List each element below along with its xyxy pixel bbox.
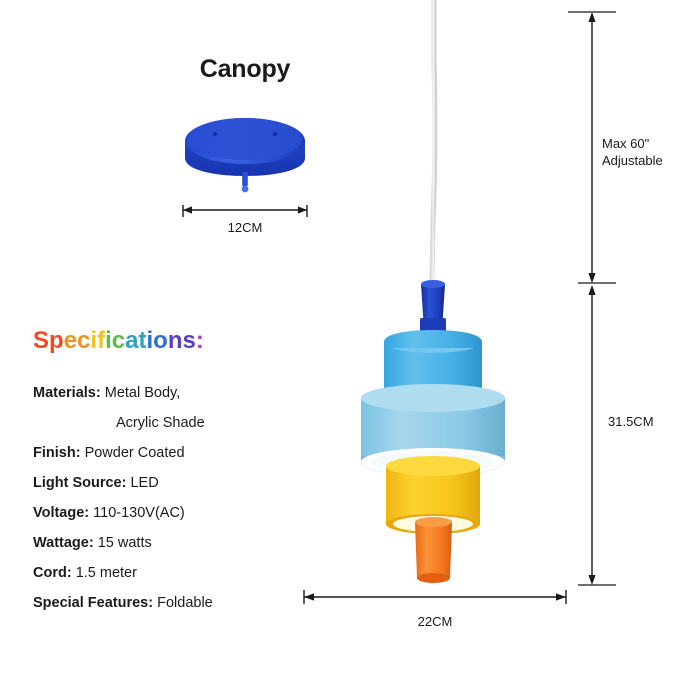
- specifications-list: Materials: Metal Body, Acrylic Shade Fin…: [33, 378, 333, 618]
- canopy-illustration: [179, 110, 311, 200]
- fixture-height-label: 31.5CM: [608, 413, 654, 430]
- heading-letter-s: S: [33, 327, 49, 354]
- spec-row-cord: Cord: 1.5 meter: [33, 558, 333, 588]
- spec-label-materials: Materials:: [33, 385, 101, 401]
- fixture-width-dimension: [290, 585, 580, 615]
- heading-letter-n: n: [168, 327, 183, 354]
- spec-label-special-features: Special Features:: [33, 595, 153, 611]
- pendant-lamp-illustration: [300, 0, 570, 600]
- spec-value-cord: 1.5 meter: [76, 565, 137, 581]
- heading-letter-o: o: [153, 327, 168, 354]
- spec-row-special-features: Special Features: Foldable: [33, 588, 333, 618]
- heading-letter-c: c: [77, 327, 90, 354]
- max-adjustable-line1: Max 60": [602, 135, 663, 152]
- spec-row-wattage: Wattage: 15 watts: [33, 528, 333, 558]
- spec-value-materials-cont: Acrylic Shade: [33, 408, 333, 438]
- spec-label-cord: Cord:: [33, 565, 72, 581]
- fixture-width-label: 22CM: [300, 614, 570, 629]
- heading-letter-a: a: [125, 327, 138, 354]
- spec-label-finish: Finish:: [33, 445, 81, 461]
- specifications-heading: Specifications:: [33, 327, 204, 355]
- heading-letter-colon: :: [196, 327, 204, 354]
- max-adjustable-line2: Adjustable: [602, 152, 663, 169]
- canopy-width-label: 12CM: [175, 220, 315, 235]
- spec-row-light-source: Light Source: LED: [33, 468, 333, 498]
- heading-letter-i2: i: [105, 327, 112, 354]
- heading-letter-c2: c: [112, 327, 125, 354]
- heading-letter-s2: s: [182, 327, 195, 354]
- spec-value-finish: Powder Coated: [85, 445, 185, 461]
- spec-row-voltage: Voltage: 110-130V(AC): [33, 498, 333, 528]
- diagram-canvas: Canopy: [0, 0, 700, 700]
- heading-letter-p: p: [49, 327, 64, 354]
- spec-value-voltage: 110-130V(AC): [93, 505, 185, 521]
- spec-value-wattage: 15 watts: [98, 535, 152, 551]
- spec-value-materials: Metal Body,: [105, 385, 181, 401]
- heading-letter-f: f: [97, 327, 105, 354]
- max-adjustable-label: Max 60" Adjustable: [602, 135, 663, 169]
- spec-row-materials: Materials: Metal Body,: [33, 378, 333, 408]
- spec-label-voltage: Voltage:: [33, 505, 89, 521]
- spec-value-light-source: LED: [130, 475, 158, 491]
- spec-label-light-source: Light Source:: [33, 475, 126, 491]
- heading-letter-e: e: [64, 327, 77, 354]
- spec-row-finish: Finish: Powder Coated: [33, 438, 333, 468]
- spec-value-special-features: Foldable: [157, 595, 213, 611]
- vertical-dimensions: [560, 0, 700, 600]
- spec-label-wattage: Wattage:: [33, 535, 94, 551]
